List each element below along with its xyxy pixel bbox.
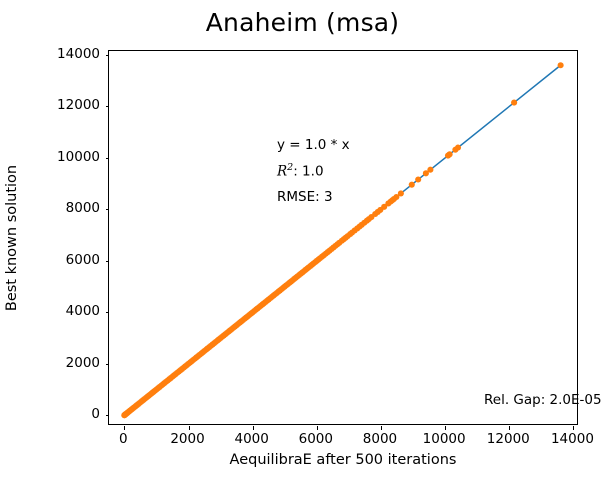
scatter-point <box>452 147 458 153</box>
y-tick-mark <box>106 55 110 56</box>
chart-figure: Anaheim (msa) y = 1.0 * x R2: 1.0 RMSE: … <box>0 0 605 484</box>
y-tick-mark <box>106 209 110 210</box>
annotation-rmse: RMSE: 3 <box>277 189 333 205</box>
scatter-point <box>558 62 564 68</box>
data-plot-svg <box>109 51 577 424</box>
x-tick-label: 4000 <box>234 431 268 447</box>
y-tick-mark <box>106 106 110 107</box>
x-tick-mark <box>381 426 382 430</box>
x-tick-label: 12000 <box>487 431 530 447</box>
y-tick-mark <box>106 158 110 159</box>
y-tick-mark <box>106 364 110 365</box>
x-tick-mark <box>509 426 510 430</box>
chart-title: Anaheim (msa) <box>0 8 605 37</box>
y-tick-mark <box>106 261 110 262</box>
y-axis-label-wrap: Best known solution <box>0 50 24 425</box>
x-tick-label: 0 <box>119 431 128 447</box>
x-tick-mark <box>445 426 446 430</box>
x-tick-label: 6000 <box>299 431 333 447</box>
x-tick-label: 10000 <box>423 431 466 447</box>
x-tick-mark <box>317 426 318 430</box>
r-squared-value: : 1.0 <box>293 164 323 180</box>
scatter-point <box>423 170 429 176</box>
y-tick-mark <box>106 312 110 313</box>
plot-area: y = 1.0 * x R2: 1.0 RMSE: 3 Rel. Gap: 2.… <box>108 50 578 425</box>
scatter-point <box>445 153 451 159</box>
r-squared-symbol: R <box>277 164 287 180</box>
x-tick-label: 2000 <box>170 431 204 447</box>
scatter-point <box>511 100 517 106</box>
y-axis-label: Best known solution <box>4 164 20 310</box>
x-tick-mark <box>253 426 254 430</box>
x-tick-label: 14000 <box>551 431 594 447</box>
data-layer <box>109 51 577 424</box>
x-tick-mark <box>189 426 190 430</box>
scatter-point <box>415 176 421 182</box>
annotation-r-squared: R2: 1.0 <box>277 162 324 180</box>
annotation-equation: y = 1.0 * x <box>277 137 350 153</box>
y-tick-mark <box>106 415 110 416</box>
scatter-point <box>409 182 415 188</box>
x-tick-mark <box>573 426 574 430</box>
annotation-relative-gap: Rel. Gap: 2.0E-05 <box>484 392 602 408</box>
x-tick-label: 8000 <box>363 431 397 447</box>
x-tick-mark <box>124 426 125 430</box>
scatter-point <box>121 412 127 418</box>
x-axis-label: AequilibraE after 500 iterations <box>108 452 578 468</box>
